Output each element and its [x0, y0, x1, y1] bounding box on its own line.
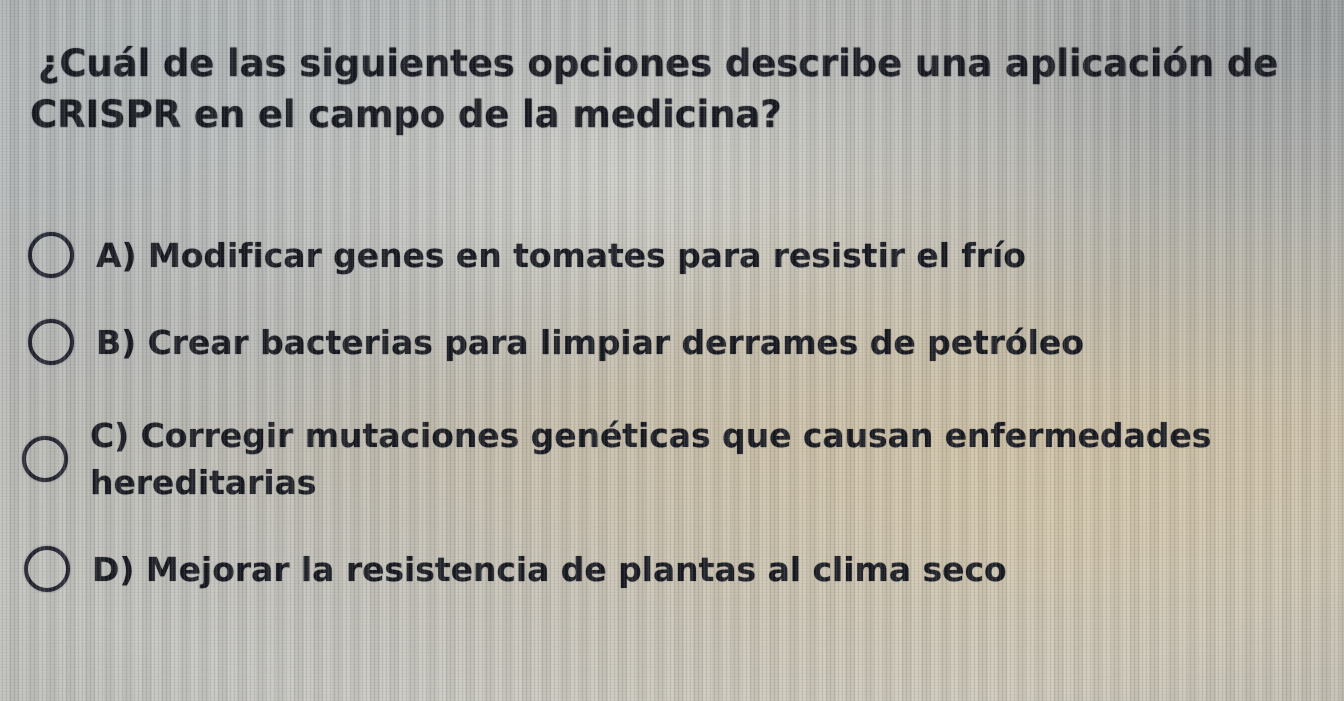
- quiz-screen-photo: ¿Cuál de las siguientes opciones describ…: [0, 0, 1344, 701]
- answer-option-c-label: C) Corregir mutaciones genéticas que cau…: [90, 412, 1211, 506]
- question-line-2: CRISPR en el campo de la medicina?: [30, 93, 782, 136]
- question-line-1: ¿Cuál de las siguientes opciones describ…: [38, 42, 1278, 85]
- answer-option-b-label: B) Crear bacterias para limpiar derrames…: [96, 319, 1084, 366]
- radio-unselected-icon[interactable]: [28, 232, 74, 278]
- answer-option-c-line-2: hereditarias: [90, 463, 316, 502]
- answer-option-a-label: A) Modificar genes en tomates para resis…: [96, 232, 1026, 279]
- answer-option-d-label: D) Mejorar la resistencia de plantas al …: [92, 546, 1007, 593]
- answer-option-c-line-1: C) Corregir mutaciones genéticas que cau…: [90, 416, 1211, 455]
- answer-options-list: A) Modificar genes en tomates para resis…: [0, 218, 1344, 612]
- answer-option-c[interactable]: C) Corregir mutaciones genéticas que cau…: [0, 392, 1344, 526]
- answer-option-d[interactable]: D) Mejorar la resistencia de plantas al …: [0, 526, 1344, 612]
- answer-option-a[interactable]: A) Modificar genes en tomates para resis…: [0, 218, 1344, 292]
- radio-unselected-icon[interactable]: [24, 546, 70, 592]
- radio-unselected-icon[interactable]: [22, 436, 68, 482]
- answer-option-b[interactable]: B) Crear bacterias para limpiar derrames…: [0, 292, 1344, 392]
- radio-unselected-icon[interactable]: [28, 319, 74, 365]
- question-text: ¿Cuál de las siguientes opciones describ…: [30, 38, 1330, 140]
- quiz-content: ¿Cuál de las siguientes opciones describ…: [0, 0, 1344, 701]
